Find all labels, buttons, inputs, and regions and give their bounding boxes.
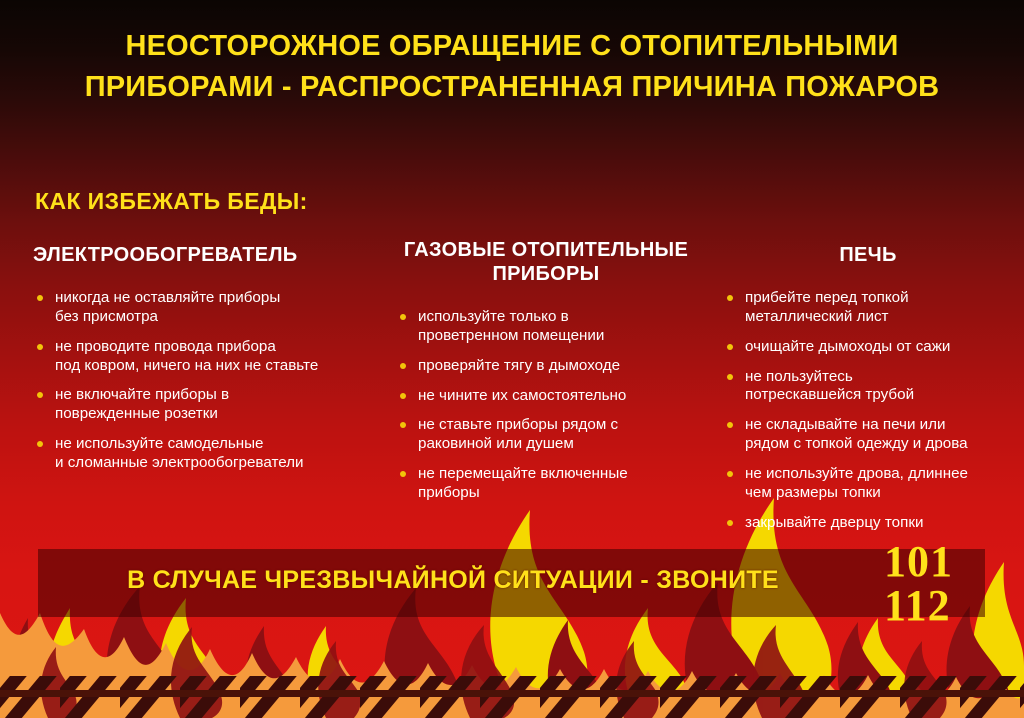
list-item: прибейте перед топкой металлический лист <box>723 289 1013 327</box>
column-heading: ЭЛЕКТРООБОГРЕВАТЕЛЬ <box>33 243 378 267</box>
list-item: очищайте дымоходы от сажи <box>723 338 1013 357</box>
fire-safety-poster: НЕОСТОРОЖНОЕ ОБРАЩЕНИЕ С ОТОПИТЕЛЬНЫМИ П… <box>0 0 1024 718</box>
list-item: не включайте приборы в поврежденные розе… <box>33 386 378 424</box>
column-heading: ГАЗОВЫЕ ОТОПИТЕЛЬНЫЕ ПРИБОРЫ <box>396 238 696 286</box>
emergency-banner-text: В СЛУЧАЕ ЧРЕЗВЫЧАЙНОЙ СИТУАЦИИ - ЗВОНИТЕ <box>38 566 868 595</box>
section-heading-how-to-avoid: КАК ИЗБЕЖАТЬ БЕДЫ: <box>35 188 308 215</box>
column-gas-heating-devices: ГАЗОВЫЕ ОТОПИТЕЛЬНЫЕ ПРИБОРЫ используйте… <box>396 238 696 514</box>
list-item: не чините их самостоятельно <box>396 387 696 406</box>
column-stove: ПЕЧЬ прибейте перед топкой металлический… <box>723 243 1013 543</box>
column-electric-heater: ЭЛЕКТРООБОГРЕВАТЕЛЬ никогда не оставляйт… <box>33 243 378 484</box>
list-item: используйте только в проветренном помеще… <box>396 308 696 346</box>
list-item: не проводите провода прибора под ковром,… <box>33 338 378 376</box>
tips-list: используйте только в проветренном помеще… <box>396 308 696 503</box>
list-item: никогда не оставляйте приборы без присмо… <box>33 289 378 327</box>
list-item: не пользуйтесь потрескавшейся трубой <box>723 368 1013 406</box>
grate-hatch <box>0 658 1024 718</box>
tips-list: прибейте перед топкой металлический лист… <box>723 289 1013 532</box>
emergency-phone-secondary: 112 <box>884 584 951 628</box>
list-item: закрывайте дверцу топки <box>723 514 1013 533</box>
list-item: не складывайте на печи или рядом с топко… <box>723 416 1013 454</box>
list-item: не используйте дрова, длиннее чем размер… <box>723 465 1013 503</box>
list-item: проверяйте тягу в дымоходе <box>396 357 696 376</box>
list-item: не перемещайте включенные приборы <box>396 465 696 503</box>
poster-title: НЕОСТОРОЖНОЕ ОБРАЩЕНИЕ С ОТОПИТЕЛЬНЫМИ П… <box>0 26 1024 108</box>
list-item: не ставьте приборы рядом с раковиной или… <box>396 416 696 454</box>
column-heading: ПЕЧЬ <box>723 243 1013 267</box>
emergency-phone-primary: 101 <box>884 540 953 584</box>
list-item: не используйте самодельные и сломанные э… <box>33 435 378 473</box>
tips-list: никогда не оставляйте приборы без присмо… <box>33 289 378 473</box>
